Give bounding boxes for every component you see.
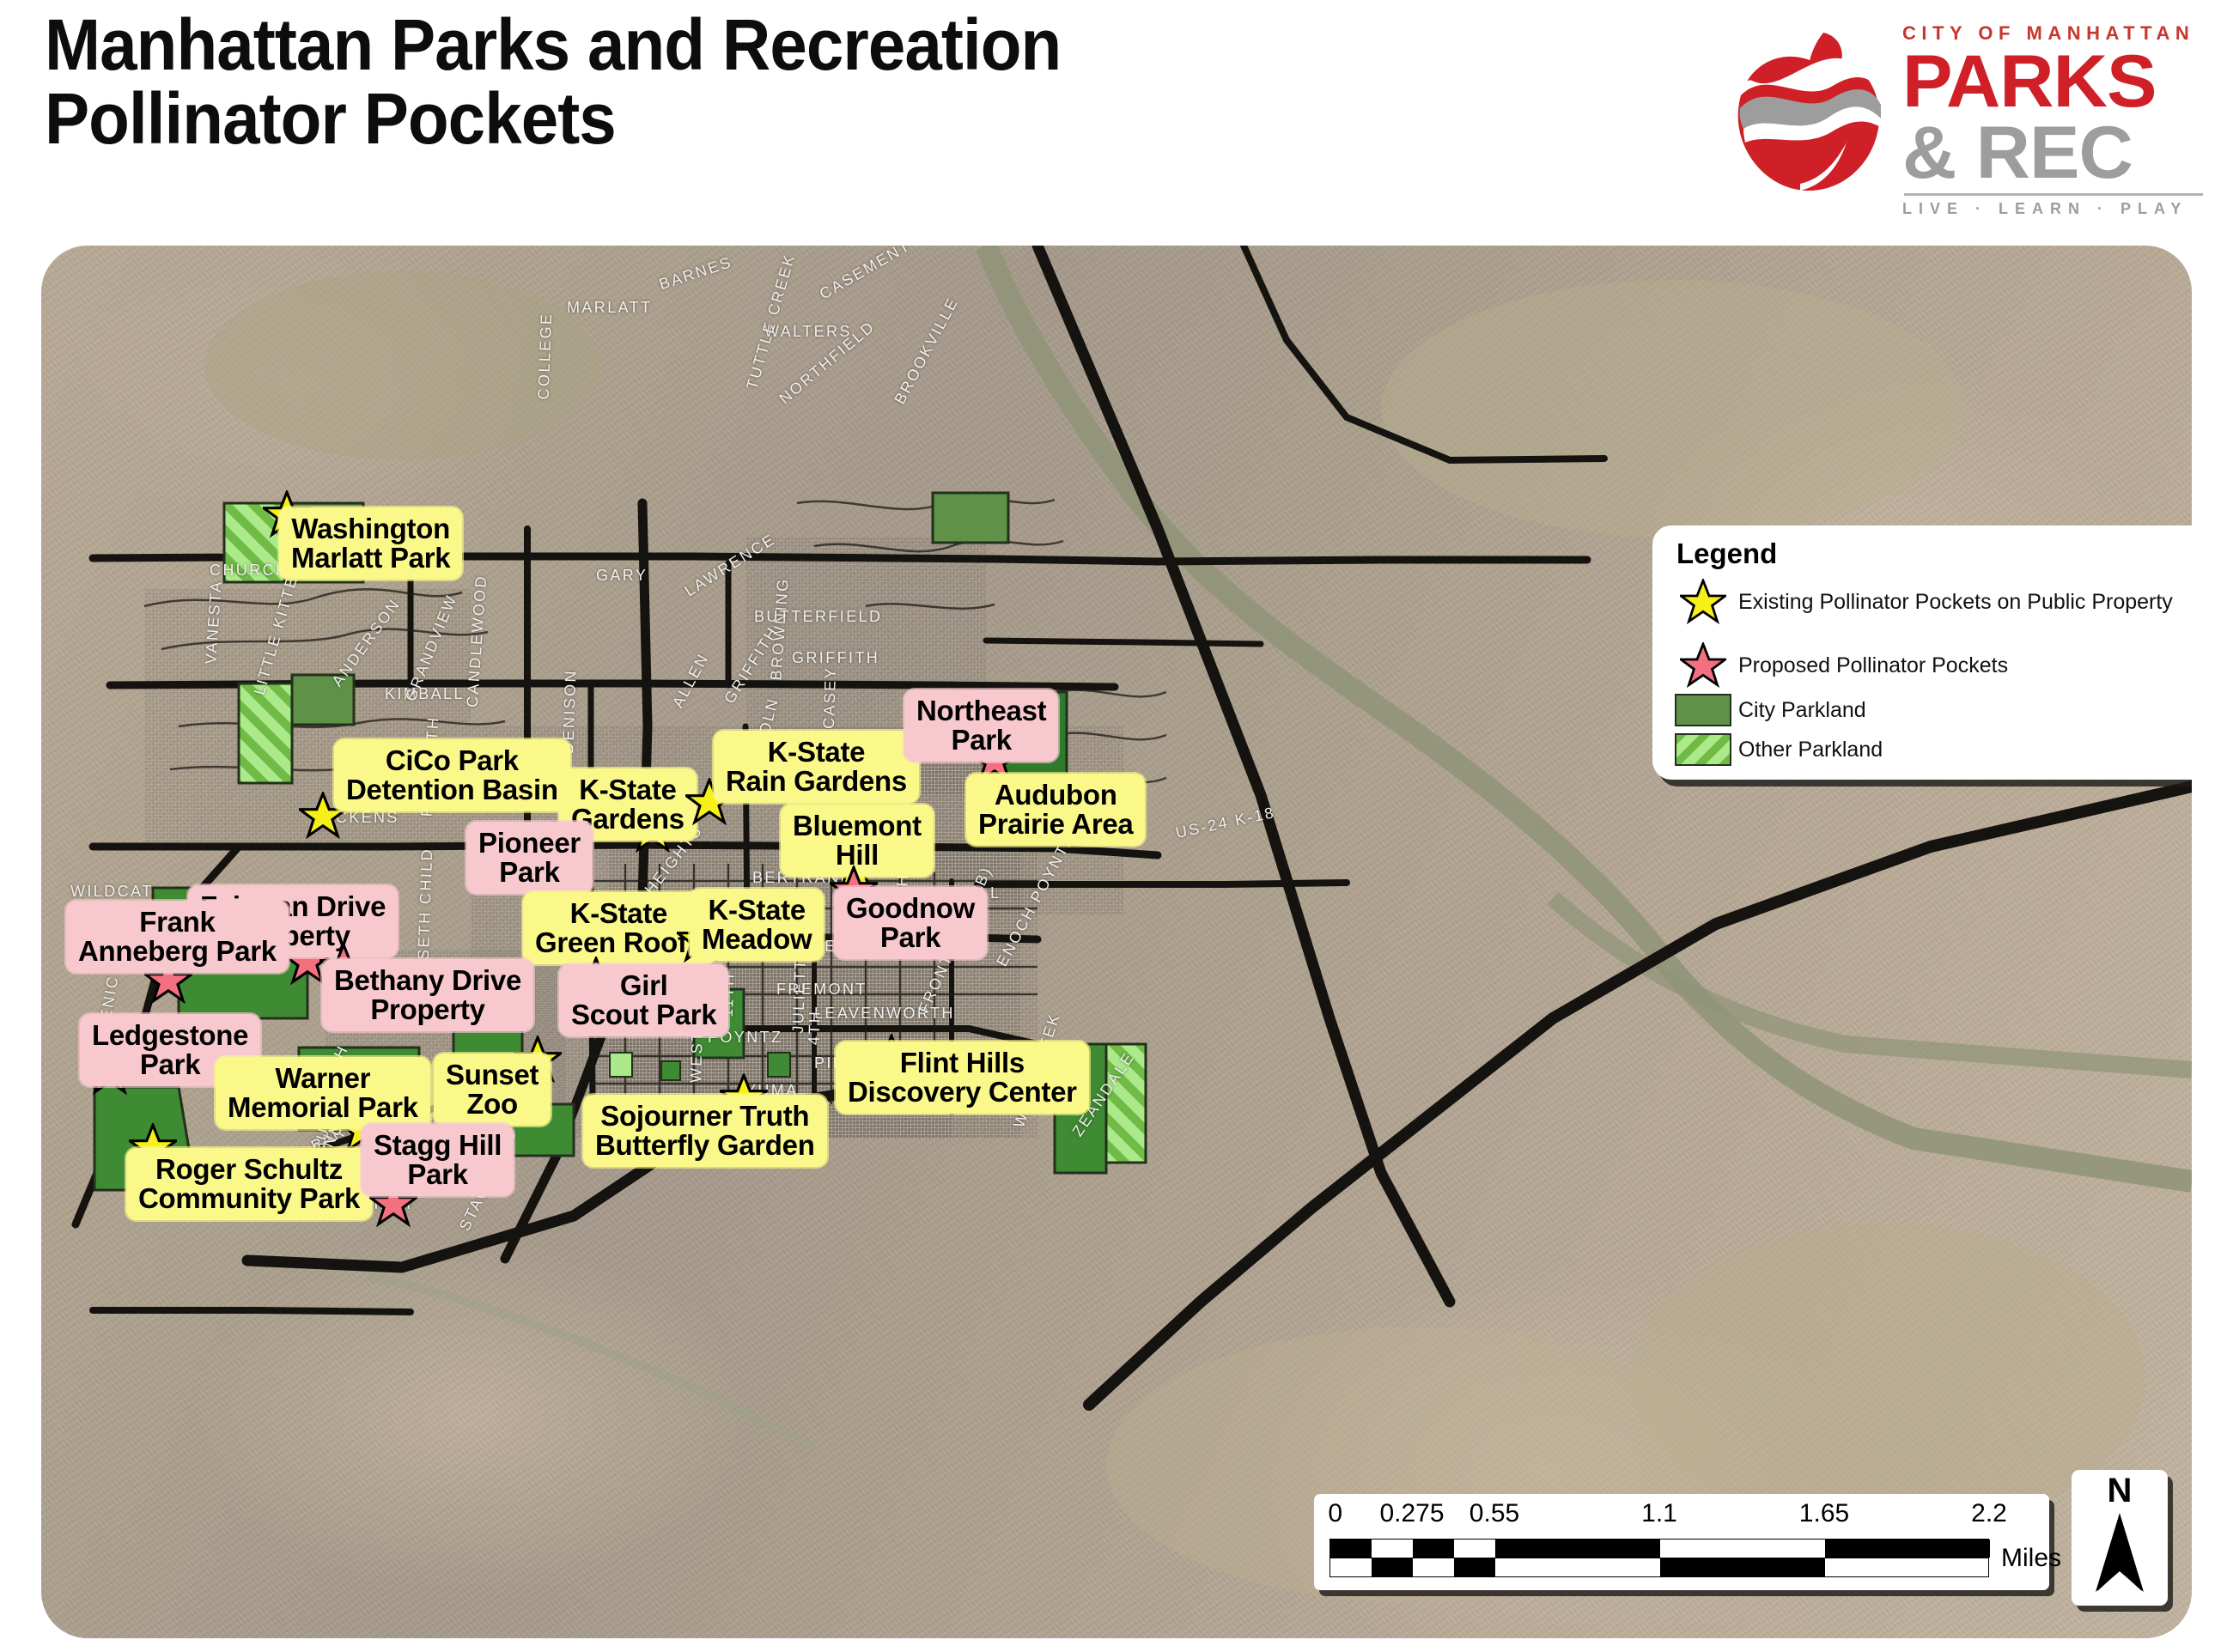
parks-and-rec-logo: CITY OF MANHATTAN PARKS & REC LIVE · LEA… <box>1726 7 2207 239</box>
legend-title: Legend <box>1676 538 1777 570</box>
city-parkland-polygon <box>661 1061 680 1080</box>
map-label-washington-marlatt-park[interactable]: Washington Marlatt Park <box>283 512 458 575</box>
city-parkland-polygon <box>292 675 354 725</box>
logo-tagline: LIVE · LEARN · PLAY <box>1902 200 2207 218</box>
map-label-northeast-park[interactable]: Northeast Park <box>909 694 1054 757</box>
logo-rec-word: & REC <box>1902 118 2213 189</box>
legend-label-proposed: Proposed Pollinator Pockets <box>1738 653 2008 678</box>
legend-row-other-parkland: Other Parkland <box>1675 733 1883 766</box>
north-arrow-icon <box>2092 1509 2147 1595</box>
city-parkland-polygon <box>933 493 1008 543</box>
scale-bar-row-top <box>1329 1539 1989 1558</box>
legend-label-existing: Existing Pollinator Pockets on Public Pr… <box>1738 590 2173 615</box>
scale-bar-graphic <box>1329 1539 1989 1578</box>
scale-units-label: Miles <box>2001 1544 2061 1573</box>
pink-star-icon <box>1675 642 1731 689</box>
map-label-audubon-prairie-area[interactable]: Audubon Prairie Area <box>970 778 1141 841</box>
scale-tick-2: 0.55 <box>1469 1499 1519 1528</box>
hatched-green-swatch-icon <box>1675 733 1731 766</box>
scale-tick-3: 1.1 <box>1641 1499 1677 1528</box>
scale-tick-4: 1.65 <box>1799 1499 1849 1528</box>
legend-row-existing: Existing Pollinator Pockets on Public Pr… <box>1675 579 2173 625</box>
map-label-girl-scout-park[interactable]: Girl Scout Park <box>563 969 724 1032</box>
map-label-roger-schultz-community-park[interactable]: Roger Schultz Community Park <box>131 1152 368 1216</box>
map-canvas[interactable]: MARLATTBARNESCASEMENTWALTERSNORTHFIELDBR… <box>41 246 2192 1638</box>
map-label-k-state-meadow[interactable]: K-State Meadow <box>694 893 819 957</box>
map-label-frank-anneberg-park[interactable]: Frank Anneberg Park <box>70 905 284 969</box>
legend-label-city-parkland: City Parkland <box>1738 698 1866 723</box>
map-scale-bar: 00.2750.551.11.652.2 Miles <box>1314 1494 2049 1590</box>
scale-tick-0: 0 <box>1328 1499 1342 1528</box>
map-legend: Legend Existing Pollinator Pockets on Pu… <box>1652 525 2192 780</box>
map-label-stagg-hill-park[interactable]: Stagg Hill Park <box>366 1128 509 1192</box>
logo-parks-word: PARKS <box>1902 46 2213 118</box>
scale-tick-5: 2.2 <box>1971 1499 2007 1528</box>
map-label-sunset-zoo[interactable]: Sunset Zoo <box>438 1058 546 1121</box>
city-parkland-polygon <box>768 1053 790 1077</box>
other-parkland-polygon <box>239 683 292 783</box>
scale-tick-1: 0.275 <box>1379 1499 1444 1528</box>
apple-logo-icon <box>1726 22 1894 194</box>
map-label-k-state-rain-gardens[interactable]: K-State Rain Gardens <box>718 735 915 799</box>
page-title: Manhattan Parks and Recreation Pollinato… <box>45 9 1061 155</box>
map-label-goodnow-park[interactable]: Goodnow Park <box>838 891 983 955</box>
map-label-warner-memorial-park[interactable]: Warner Memorial Park <box>220 1061 426 1125</box>
map-label-pioneer-park[interactable]: Pioneer Park <box>471 826 588 890</box>
map-label-cico-park-detention-basin[interactable]: CiCo Park Detention Basin <box>338 744 566 807</box>
map-label-bluemont-hill[interactable]: Bluemont Hill <box>785 809 929 872</box>
yellow-star-icon <box>1675 579 1731 625</box>
scale-bar-row-bottom <box>1329 1558 1989 1577</box>
page-header: Manhattan Parks and Recreation Pollinato… <box>0 0 2233 246</box>
legend-label-other-parkland: Other Parkland <box>1738 738 1883 762</box>
legend-row-city-parkland: City Parkland <box>1675 694 1866 726</box>
map-label-flint-hills-discovery-center[interactable]: Flint Hills Discovery Center <box>840 1046 1085 1109</box>
green-swatch-icon <box>1675 694 1731 726</box>
legend-row-proposed: Proposed Pollinator Pockets <box>1675 642 2008 689</box>
other-parkland-polygon <box>610 1053 632 1077</box>
map-label-bethany-drive-property[interactable]: Bethany Drive Property <box>326 963 529 1027</box>
map-label-sojourner-truth-butterfly-garden[interactable]: Sojourner Truth Butterfly Garden <box>587 1099 823 1163</box>
scale-tick-labels: 00.2750.551.11.652.2 <box>1329 1499 1999 1532</box>
north-letter: N <box>2108 1473 2133 1508</box>
north-arrow: N <box>2072 1470 2168 1606</box>
